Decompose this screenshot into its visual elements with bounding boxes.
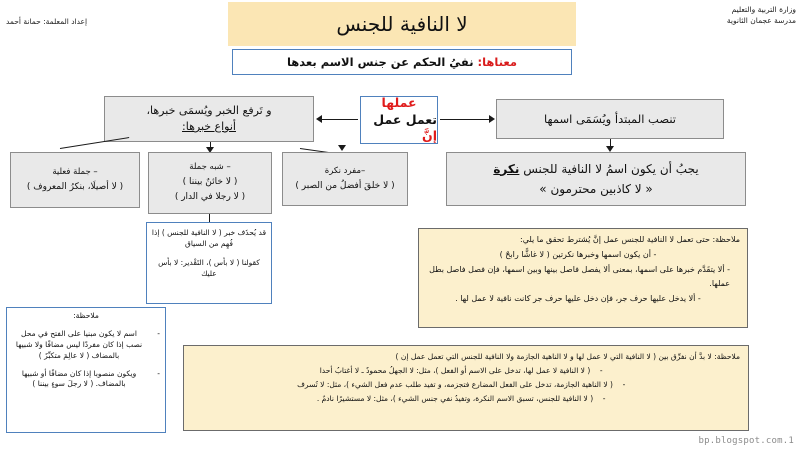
ism-build-note-heading: ملاحظة: (12, 311, 160, 322)
khabar-type-heading: – جملة فعلية (52, 165, 97, 179)
khabar-type-example: ( لا خلقَ أفضلُ من الصبر ) (295, 179, 394, 194)
effect-box-raf-line-2: أنواع خبرها: (182, 119, 236, 136)
source-watermark: 1.bp.blogspot.com (698, 436, 794, 446)
page-title: لا النافية للجنس (228, 2, 576, 46)
center-node-amaluha: عملها تعمل عمل إنَّ (360, 96, 438, 144)
distinction-note-item: -( لا النافية لا عمل لها، تدخل على الاسم… (192, 364, 740, 378)
khabar-type-example-1: ( لا خائنٌ بيننا ) (183, 175, 238, 190)
khabar-type-jumla-filiya: – جملة فعلية ( لا أصيلَا، بنكرُ المعروف … (10, 152, 140, 208)
khabar-type-shibh-jumla: – شبه جملة ( لا خائنٌ بيننا ) ( لا رجلا … (148, 152, 272, 214)
distinction-note-list: -( لا النافية لا عمل لها، تدخل على الاسم… (192, 364, 740, 406)
distinction-note-item-text: ( لا النافية لا عمل لها، تدخل على الاسم … (320, 366, 591, 375)
arrow-down-to-mufrad-nakira (338, 145, 346, 151)
khabar-type-example-2: ( لا رجلا في الدار ) (175, 190, 245, 205)
effect-box-raf: و تَرفع الخبر ويُسمَى خبرها، أنواع خبرها… (104, 96, 314, 142)
ism-build-note-list: -اسم لا يكون مبنيا على الفتح في محل نصب … (12, 329, 160, 390)
ism-rule-line-1-text: يجبُ أن يكون اسمُ لا النافية للجنس (519, 162, 698, 176)
ism-rule-keyword: نكرة (493, 162, 519, 176)
bullet-dash: - (157, 329, 160, 340)
ism-build-note-item: -ويكون منصوبا إذا كان مضافًا أو شبيها با… (12, 369, 160, 391)
meaning-label: معناها: (478, 55, 518, 69)
bullet-dash: - (593, 392, 615, 406)
effect-box-nasb: تنصب المبتدأ ويُسَمَى اسمها (496, 99, 724, 139)
center-node-title: عملها (382, 95, 417, 112)
ism-rule-example: « لا كاذبين محترمون » (539, 179, 652, 199)
author-credit: إعداد المعلمة: حمانة أحمد (6, 17, 191, 26)
distinction-note-item: -( لا النافية للجنس، تسبق الاسم النكرة، … (192, 392, 740, 406)
khabar-omission-line-2: كقولنا ( لا بأس )، التَقْدير: لا بأس علي… (151, 257, 267, 280)
ministry-block: وزارة التربية والتعليم مدرسة عجمان الثان… (646, 4, 796, 27)
ism-build-note-item-text: ويكون منصوبا إذا كان مضافًا أو شبيها بال… (22, 369, 136, 389)
khabar-type-mufrad-nakira: –مفرد نكرة ( لا خلقَ أفضلُ من الصبر ) (282, 152, 408, 206)
distinction-note-item: -( لا الناهية الجازمة، تدخل على الفعل ال… (192, 378, 740, 392)
khabar-type-example: ( لا أصيلَا، بنكرُ المعروف ) (27, 180, 123, 195)
conditions-note-item: - ألا يتقَدَّم خبرها على اسمها، بمعنى أل… (426, 263, 730, 289)
connector-raf-to-jumla-filiya (60, 137, 129, 149)
bullet-dash: - (157, 369, 160, 380)
bullet-dash: - (613, 378, 635, 392)
connector-center-to-left (322, 119, 358, 120)
khabar-type-heading: –مفرد نكرة (325, 164, 365, 178)
center-node-subtitle-accent: إنَّ (422, 128, 437, 143)
distinction-note-item-text: ( لا الناهية الجازمة، تدخل على الفعل الم… (297, 380, 613, 389)
ism-build-note: ملاحظة: -اسم لا يكون مبنيا على الفتح في … (6, 307, 166, 433)
conditions-note-item: - ألا يدخل عليها حرف جر، فإن دخل عليها ح… (426, 292, 730, 305)
center-node-subtitle: تعمل عمل إنَّ (361, 112, 437, 146)
ministry-line-1: وزارة التربية والتعليم (646, 4, 796, 15)
distinction-note-heading: ملاحظة: لا بدَّ أن نفرِّق بين ( لا الناف… (192, 350, 740, 364)
connector-center-to-right (440, 119, 490, 120)
ism-rule-line-1: يجبُ أن يكون اسمُ لا النافية للجنس نكرة (493, 159, 698, 179)
center-node-subtitle-plain: تعمل عمل (373, 112, 437, 127)
arrow-left-to-raf-box (316, 115, 322, 123)
meaning-box: معناها: نفيُ الحكم عن جنس الاسم بعدها (232, 49, 572, 75)
conditions-note: ملاحظة: حتى تعمل لا النافية للجنس عمل إن… (418, 228, 748, 328)
bullet-dash: - (590, 364, 612, 378)
distinction-note: ملاحظة: لا بدَّ أن نفرِّق بين ( لا الناف… (183, 345, 749, 431)
khabar-type-heading: – شبه جملة (189, 160, 230, 174)
arrow-right-to-nasb-box (489, 115, 495, 123)
connector-to-omission-note (209, 214, 210, 222)
ministry-line-2: مدرسة عجمان الثانوية (646, 15, 796, 26)
distinction-note-item-text: ( لا النافية للجنس، تسبق الاسم النكرة، و… (317, 394, 593, 403)
ism-build-note-item: -اسم لا يكون مبنيا على الفتح في محل نصب … (12, 329, 160, 362)
khabar-omission-line-1: قد يُحذَف خبر ( لا النافية للجنس ) إذا ف… (151, 227, 267, 250)
slide-canvas: وزارة التربية والتعليم مدرسة عجمان الثان… (0, 0, 800, 450)
khabar-omission-note: قد يُحذَف خبر ( لا النافية للجنس ) إذا ف… (146, 222, 272, 304)
conditions-note-list: - أن يكون اسمها وخبرها نكرتين ( لا غاشًّ… (426, 248, 730, 305)
ism-build-note-item-text: اسم لا يكون مبنيا على الفتح في محل نصب إ… (16, 329, 142, 360)
meaning-value: نفيُ الحكم عن جنس الاسم بعدها (287, 55, 474, 69)
conditions-note-item: - أن يكون اسمها وخبرها نكرتين ( لا غاشًّ… (426, 248, 730, 261)
effect-box-raf-line-1: و تَرفع الخبر ويُسمَى خبرها، (146, 103, 271, 120)
ism-rule-box: يجبُ أن يكون اسمُ لا النافية للجنس نكرة … (446, 152, 746, 206)
conditions-note-heading: ملاحظة: حتى تعمل لا النافية للجنس عمل إن… (426, 233, 740, 246)
